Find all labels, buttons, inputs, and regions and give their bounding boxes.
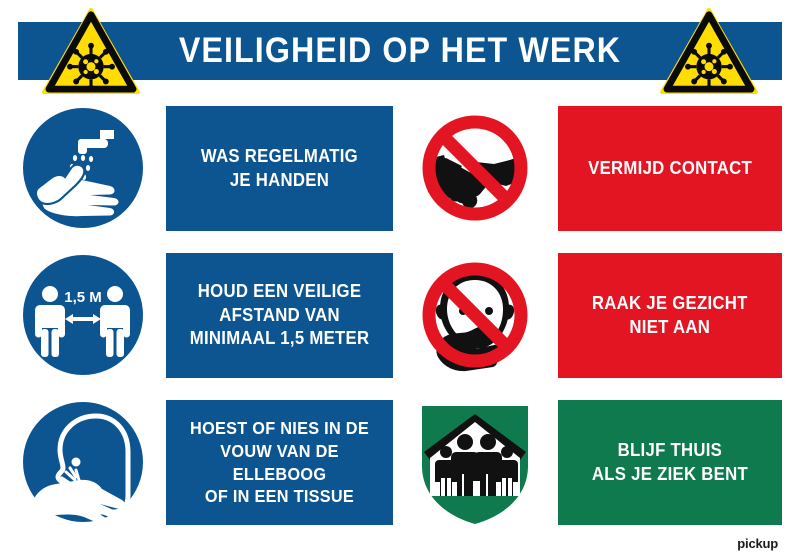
panel-label: RAAK JE GEZICHT NIET AAN xyxy=(585,292,756,339)
virus-warning-triangle-icon xyxy=(42,8,140,94)
panel-cough-elbow: HOEST OF NIES IN DE VOUW VAN DE ELLEBOOG… xyxy=(18,400,393,525)
panel-text-box: BLIJF THUIS ALS JE ZIEK BENT xyxy=(558,400,782,525)
panel-text-box: HOUD EEN VEILIGE AFSTAND VAN MINIMAAL 1,… xyxy=(166,253,393,378)
panel-text-box: HOEST OF NIES IN DE VOUW VAN DE ELLEBOOG… xyxy=(166,400,393,525)
panel-wash-hands: WAS REGELMATIG JE HANDEN xyxy=(18,106,393,231)
panel-label: HOEST OF NIES IN DE VOUW VAN DE ELLEBOOG… xyxy=(174,417,385,508)
safety-poster: VEILIGHEID OP HET WERK xyxy=(0,0,800,559)
pickup-logo: pickup xyxy=(737,536,778,551)
stay-home-shield-icon xyxy=(410,400,540,525)
wash-hands-icon xyxy=(18,106,148,231)
panel-dont-touch-face: RAAK JE GEZICHT NIET AAN xyxy=(410,253,782,378)
panel-text-box: RAAK JE GEZICHT NIET AAN xyxy=(558,253,782,378)
no-handshake-icon xyxy=(410,106,540,231)
page-title: VEILIGHEID OP HET WERK xyxy=(49,22,752,80)
panel-label: BLIJF THUIS ALS JE ZIEK BENT xyxy=(585,439,756,486)
cough-into-elbow-icon xyxy=(18,400,148,525)
panel-text-box: VERMIJD CONTACT xyxy=(558,106,782,231)
panel-text-box: WAS REGELMATIG JE HANDEN xyxy=(166,106,393,231)
virus-warning-triangle-icon xyxy=(660,8,758,94)
panel-label: VERMIJD CONTACT xyxy=(581,157,760,180)
panel-label: WAS REGELMATIG JE HANDEN xyxy=(194,145,366,192)
panel-keep-distance: 1,5 M HOUD EEN VEILIGE AFSTAND VAN MINIM… xyxy=(18,253,393,378)
panel-grid: WAS REGELMATIG JE HANDEN xyxy=(18,106,782,526)
social-distance-icon: 1,5 M xyxy=(18,253,148,378)
panel-stay-home: BLIJF THUIS ALS JE ZIEK BENT xyxy=(410,400,782,525)
panel-avoid-contact: VERMIJD CONTACT xyxy=(410,106,782,231)
no-touch-face-icon xyxy=(410,253,540,378)
panel-label: HOUD EEN VEILIGE AFSTAND VAN MINIMAAL 1,… xyxy=(182,280,376,350)
svg-text:1,5 M: 1,5 M xyxy=(64,289,102,306)
